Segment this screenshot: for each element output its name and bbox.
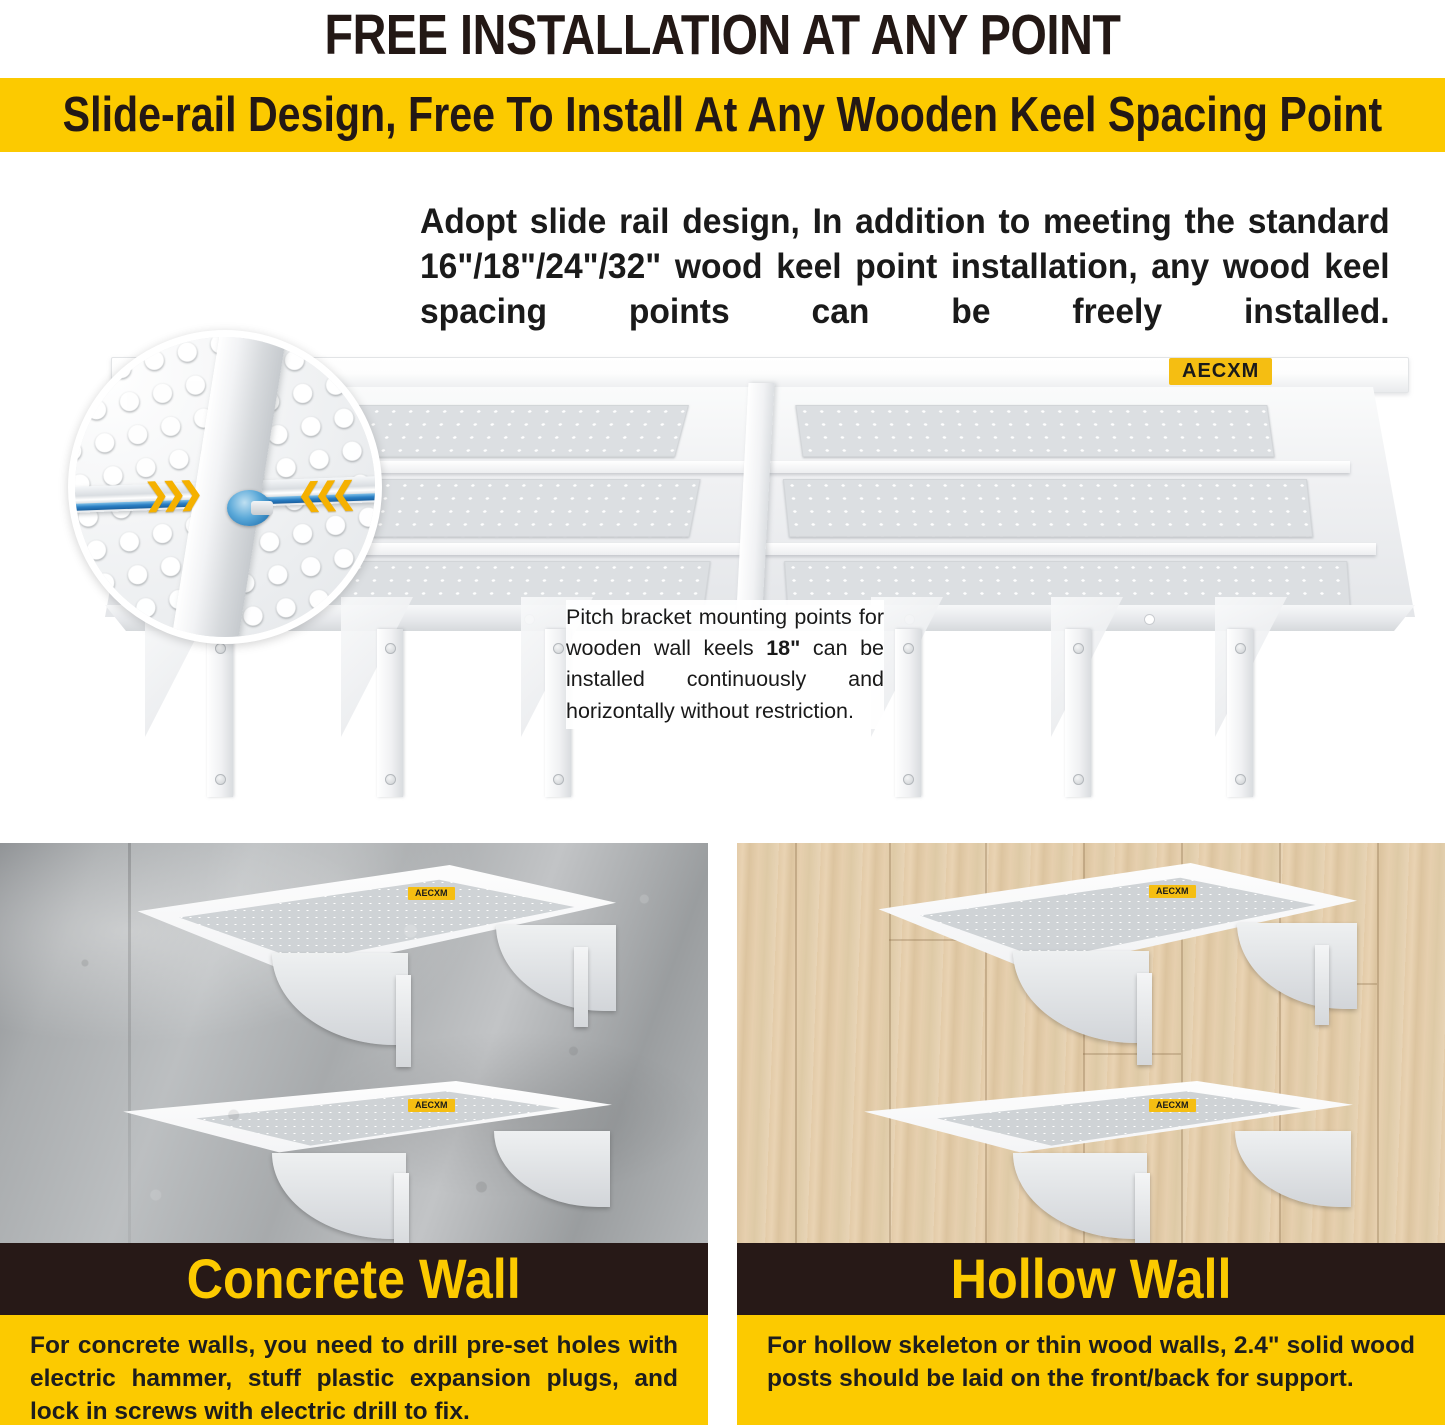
header-banner-text: Slide-rail Design, Free To Install At An… <box>63 91 1383 140</box>
mini-shelf-arc <box>496 925 616 1011</box>
mini-shelf-arc <box>1013 1153 1147 1239</box>
concrete-caption-text: For concrete walls, you need to drill pr… <box>30 1330 678 1425</box>
mini-shelf-upper: AECXM <box>837 863 1357 1073</box>
hollow-caption-bar: Hollow Wall <box>737 1243 1445 1315</box>
hollow-caption-title: Hollow Wall <box>951 1251 1232 1307</box>
shelf-bracket <box>1227 629 1253 797</box>
hollow-caption-body: For hollow skeleton or thin wood walls, … <box>737 1315 1445 1425</box>
concrete-caption-title: Concrete Wall <box>187 1251 521 1307</box>
chevron-right-triple-icon: ❯❯❯ <box>143 479 195 511</box>
concrete-caption-bar: Concrete Wall <box>0 1243 708 1315</box>
hero-section: Adopt slide rail design, In addition to … <box>0 152 1445 835</box>
pitch-bracket-note: Pitch bracket mounting points for wooden… <box>566 600 884 729</box>
mini-shelf-arc <box>272 953 408 1045</box>
header-banner: Slide-rail Design, Free To Install At An… <box>0 78 1445 152</box>
plank-line <box>795 843 797 1243</box>
mini-brand-badge: AECXM <box>408 1099 455 1112</box>
hollow-caption-text: For hollow skeleton or thin wood walls, … <box>767 1330 1415 1396</box>
magnifier-inner: ❯❯❯ ❮❮❮ <box>75 337 375 637</box>
deck-panel <box>796 405 1275 457</box>
mini-shelf-grid <box>92 1081 612 1243</box>
mini-brand-badge: AECXM <box>1149 885 1196 898</box>
mini-shelf-arc <box>1013 951 1149 1043</box>
concrete-wall-photo: AECXM AECXM <box>0 843 708 1243</box>
mini-shelf-surface <box>96 865 616 1075</box>
bolt-icon <box>227 490 271 526</box>
deck-panel <box>783 479 1313 537</box>
chevron-left-triple-icon: ❮❮❮ <box>296 479 348 511</box>
concrete-seam <box>128 843 131 1243</box>
mini-shelf-grid <box>96 865 616 1075</box>
pitch-note-emphasis: 18" <box>766 636 800 660</box>
shelf-bracket <box>377 629 403 797</box>
mini-shelf-upper: AECXM <box>96 865 616 1075</box>
mini-shelf-arc <box>272 1153 406 1239</box>
detail-magnifier: ❯❯❯ ❮❮❮ <box>68 330 382 644</box>
wood-wall-photo: AECXM AECXM <box>737 843 1445 1243</box>
mini-shelf-surface <box>92 1081 612 1243</box>
mini-shelf-leg <box>1315 945 1329 1025</box>
wall-type-panels: AECXM AECXM Concrete Wall For concrete w… <box>0 843 1445 1425</box>
mini-shelf-arc <box>494 1131 610 1207</box>
mini-shelf-lower: AECXM <box>92 1081 612 1243</box>
mini-shelf-arc <box>1235 1131 1351 1207</box>
mini-shelf-lower: AECXM <box>833 1081 1353 1243</box>
mini-shelf-leg <box>1135 1173 1150 1243</box>
panel-concrete-wall: AECXM AECXM Concrete Wall For concrete w… <box>0 843 708 1425</box>
hero-description: Adopt slide rail design, In addition to … <box>420 200 1390 334</box>
page-title: FREE INSTALLATION AT ANY POINT <box>130 0 1315 70</box>
mini-shelf-leg <box>574 947 588 1027</box>
panel-hollow-wall: AECXM AECXM Hollow Wall For hollow skele… <box>737 843 1445 1425</box>
concrete-caption-body: For concrete walls, you need to drill pr… <box>0 1315 708 1425</box>
mini-brand-badge: AECXM <box>408 887 455 900</box>
mini-shelf-leg <box>1137 973 1152 1065</box>
mini-brand-badge: AECXM <box>1149 1099 1196 1112</box>
shelf-bracket <box>207 629 233 797</box>
lip-hole <box>1145 615 1154 624</box>
shelf-bracket <box>1065 629 1091 797</box>
brand-badge: AECXM <box>1169 358 1272 385</box>
plank-line <box>1377 843 1379 1243</box>
shelf-bracket <box>895 629 921 797</box>
mini-shelf-leg <box>396 975 411 1067</box>
mini-shelf-leg <box>394 1173 409 1243</box>
mini-shelf-arc <box>1237 923 1357 1009</box>
